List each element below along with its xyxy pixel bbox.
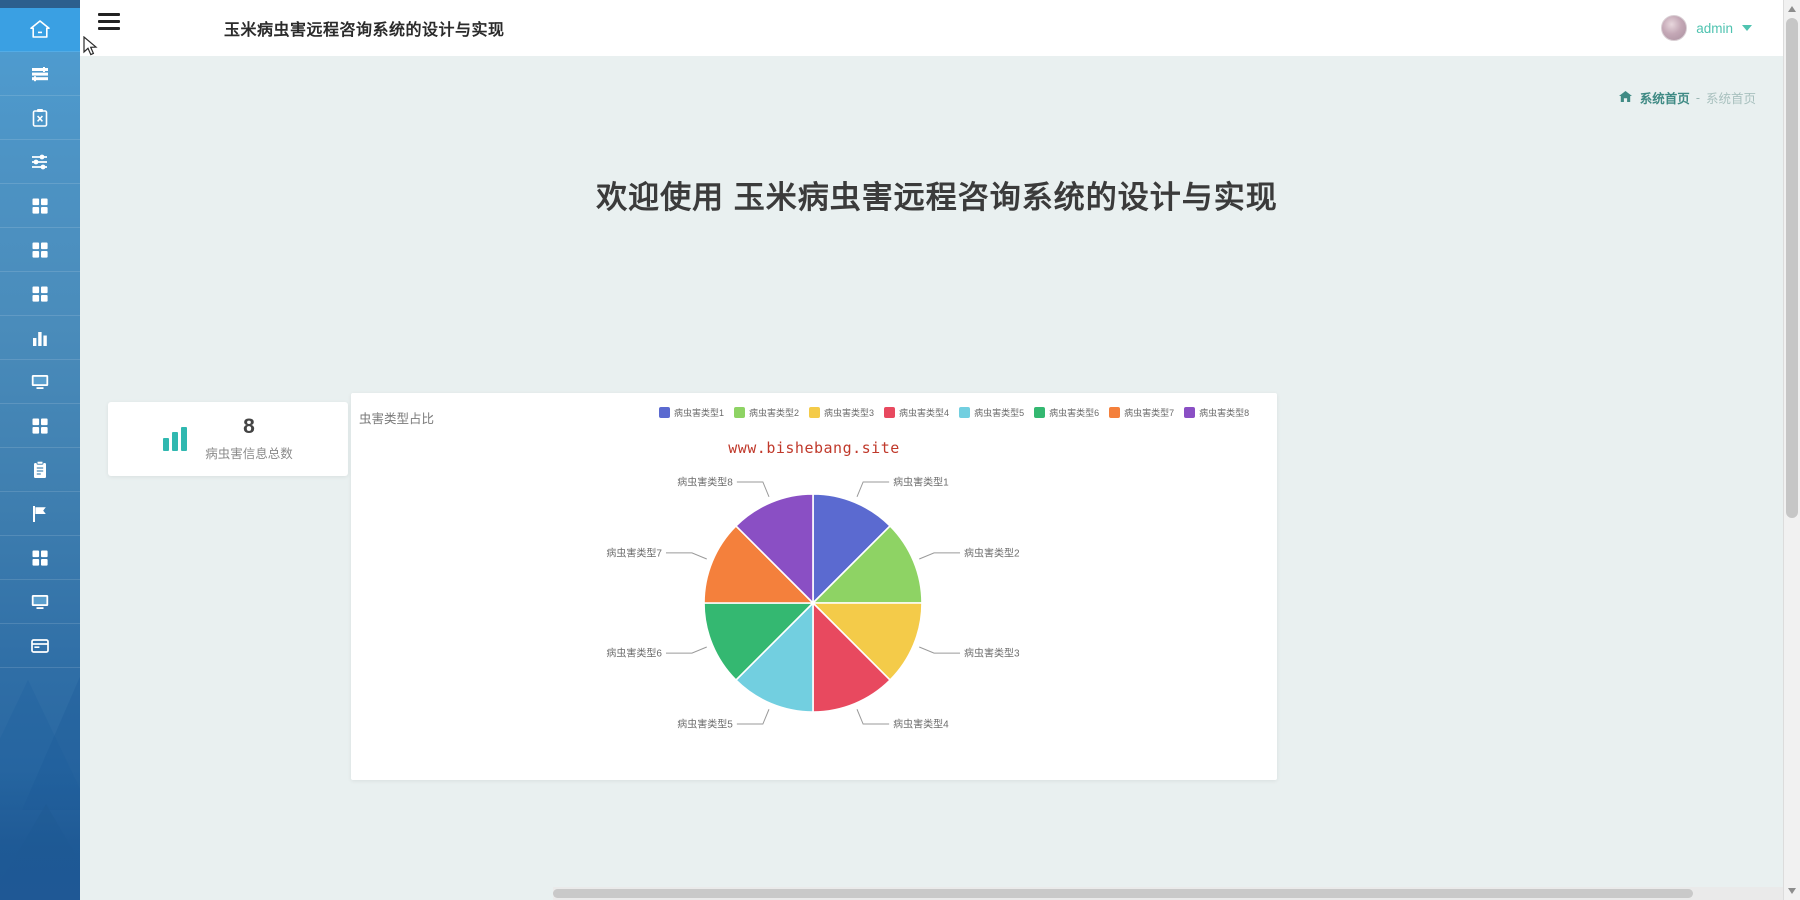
breadcrumb-current[interactable]: 系统首页 <box>1640 88 1690 107</box>
sliders-icon <box>29 151 51 173</box>
stat-label: 病虫害信息总数 <box>205 443 293 462</box>
breadcrumb-last: 系统首页 <box>1706 88 1756 107</box>
legend-item-6[interactable]: 病虫害类型6 <box>1034 406 1099 419</box>
legend-label: 病虫害类型8 <box>1199 406 1249 419</box>
welcome-heading: 欢迎使用 玉米病虫害远程咨询系统的设计与实现 <box>80 172 1794 217</box>
legend-item-5[interactable]: 病虫害类型5 <box>959 406 1024 419</box>
legend-swatch <box>1184 407 1195 418</box>
pie-label-leader-line <box>666 647 707 653</box>
legend-label: 病虫害类型7 <box>1124 406 1174 419</box>
sidebar-item-14-card[interactable] <box>0 624 80 668</box>
sidebar-item-8-monitor[interactable] <box>0 360 80 404</box>
sidebar-item-1-list[interactable] <box>0 52 80 96</box>
sidebar-item-3-sliders[interactable] <box>0 140 80 184</box>
chart-title: 虫害类型占比 <box>359 408 434 427</box>
list-icon <box>29 63 51 85</box>
hamburger-line <box>98 27 120 30</box>
breadcrumb-separator: - <box>1696 91 1700 105</box>
grid-icon <box>29 239 51 261</box>
legend-item-2[interactable]: 病虫害类型2 <box>734 406 799 419</box>
sidebar-item-11-flag[interactable] <box>0 492 80 536</box>
pie-label-leader-line <box>919 647 960 653</box>
sidebar-item-2-clipboard-x[interactable] <box>0 96 80 140</box>
scroll-down-arrow-icon[interactable] <box>1788 888 1796 894</box>
app-root: 玉米病虫害远程咨询系统的设计与实现 admin 系统首页 - 系统首页 欢迎使用… <box>0 0 1800 900</box>
clipboard-x-icon <box>29 107 51 129</box>
bar-chart-icon <box>163 427 187 451</box>
monitor-icon <box>29 371 51 393</box>
user-menu[interactable]: admin <box>1661 15 1752 41</box>
legend-swatch <box>734 407 745 418</box>
hamburger-line <box>98 20 120 23</box>
vertical-scrollbar[interactable] <box>1783 0 1800 900</box>
main-content: 系统首页 - 系统首页 欢迎使用 玉米病虫害远程咨询系统的设计与实现 8 病虫害… <box>80 56 1794 876</box>
breadcrumb: 系统首页 - 系统首页 <box>1619 88 1756 107</box>
sidebar-item-12-grid[interactable] <box>0 536 80 580</box>
flag-icon <box>29 503 51 525</box>
pie-label-leader-line <box>919 553 960 559</box>
legend-swatch <box>1109 407 1120 418</box>
legend-swatch <box>884 407 895 418</box>
card-icon <box>29 635 51 657</box>
pie-slice-label-1: 病虫害类型1 <box>893 475 949 488</box>
pie-label-leader-line <box>737 482 769 497</box>
grid-icon <box>29 415 51 437</box>
grid-icon <box>29 283 51 305</box>
home-icon <box>1619 91 1632 105</box>
chevron-down-icon[interactable] <box>1742 25 1752 31</box>
legend-swatch <box>809 407 820 418</box>
monitor-icon <box>29 591 51 613</box>
pie-label-leader-line <box>666 553 707 559</box>
top-header: 玉米病虫害远程咨询系统的设计与实现 admin <box>80 0 1800 56</box>
legend-swatch <box>1034 407 1045 418</box>
pie-slice-label-4: 病虫害类型4 <box>893 718 949 731</box>
sidebar-item-9-grid[interactable] <box>0 404 80 448</box>
legend-item-1[interactable]: 病虫害类型1 <box>659 406 724 419</box>
pie-slice-label-2: 病虫害类型2 <box>964 546 1020 559</box>
legend-label: 病虫害类型6 <box>1049 406 1099 419</box>
vertical-scrollbar-thumb[interactable] <box>1786 18 1798 518</box>
hamburger-line <box>98 13 120 16</box>
horizontal-scrollbar-thumb[interactable] <box>553 889 1693 898</box>
grid-icon <box>29 195 51 217</box>
scroll-up-arrow-icon[interactable] <box>1788 6 1796 12</box>
chart-legend: 病虫害类型1病虫害类型2病虫害类型3病虫害类型4病虫害类型5病虫害类型6病虫害类… <box>659 406 1249 419</box>
bar-chart-icon <box>29 327 51 349</box>
sidebar-bottom-gradient <box>0 770 80 900</box>
pie-chart-card: 虫害类型占比 病虫害类型1病虫害类型2病虫害类型3病虫害类型4病虫害类型5病虫害… <box>351 393 1277 780</box>
pie-label-leader-line <box>857 482 889 497</box>
pie-label-leader-line <box>737 709 769 724</box>
horizontal-scrollbar[interactable] <box>553 887 1783 900</box>
bar <box>172 432 178 451</box>
legend-label: 病虫害类型5 <box>974 406 1024 419</box>
stat-value: 8 <box>205 416 293 438</box>
legend-label: 病虫害类型1 <box>674 406 724 419</box>
grid-icon <box>29 547 51 569</box>
sidebar <box>0 0 80 900</box>
sidebar-nav-list <box>0 0 80 668</box>
pie-slice-label-8: 病虫害类型8 <box>677 475 733 488</box>
pie-slice-label-3: 病虫害类型3 <box>964 647 1020 660</box>
clipboard-icon <box>29 459 51 481</box>
legend-item-4[interactable]: 病虫害类型4 <box>884 406 949 419</box>
app-title: 玉米病虫害远程咨询系统的设计与实现 <box>224 16 505 40</box>
legend-label: 病虫害类型4 <box>899 406 949 419</box>
sidebar-item-7-bar-chart[interactable] <box>0 316 80 360</box>
legend-label: 病虫害类型2 <box>749 406 799 419</box>
pie-slice-label-5: 病虫害类型5 <box>677 718 733 731</box>
sidebar-item-10-clipboard[interactable] <box>0 448 80 492</box>
sidebar-item-4-grid[interactable] <box>0 184 80 228</box>
legend-item-7[interactable]: 病虫害类型7 <box>1109 406 1174 419</box>
user-name-label: admin <box>1696 21 1733 36</box>
legend-label: 病虫害类型3 <box>824 406 874 419</box>
stat-card-pest-total[interactable]: 8 病虫害信息总数 <box>108 402 348 476</box>
legend-item-8[interactable]: 病虫害类型8 <box>1184 406 1249 419</box>
pie-slice-label-6: 病虫害类型6 <box>606 647 662 660</box>
mouse-cursor <box>83 36 99 58</box>
pie-chart-svg[interactable]: 病虫害类型1病虫害类型2病虫害类型3病虫害类型4病虫害类型5病虫害类型6病虫害类… <box>351 451 1277 780</box>
bar <box>181 427 187 451</box>
legend-item-3[interactable]: 病虫害类型3 <box>809 406 874 419</box>
home-icon <box>29 19 51 41</box>
sidebar-item-6-grid[interactable] <box>0 272 80 316</box>
pie-chart-plot: 病虫害类型1病虫害类型2病虫害类型3病虫害类型4病虫害类型5病虫害类型6病虫害类… <box>351 451 1277 780</box>
stat-card-text: 8 病虫害信息总数 <box>205 416 293 461</box>
sidebar-item-5-grid[interactable] <box>0 228 80 272</box>
avatar <box>1661 15 1687 41</box>
sidebar-item-0-home[interactable] <box>0 8 80 52</box>
sidebar-item-13-monitor[interactable] <box>0 580 80 624</box>
pie-label-leader-line <box>857 709 889 724</box>
bar <box>163 438 169 451</box>
legend-swatch <box>659 407 670 418</box>
pie-slice-label-7: 病虫害类型7 <box>606 546 662 559</box>
legend-swatch <box>959 407 970 418</box>
